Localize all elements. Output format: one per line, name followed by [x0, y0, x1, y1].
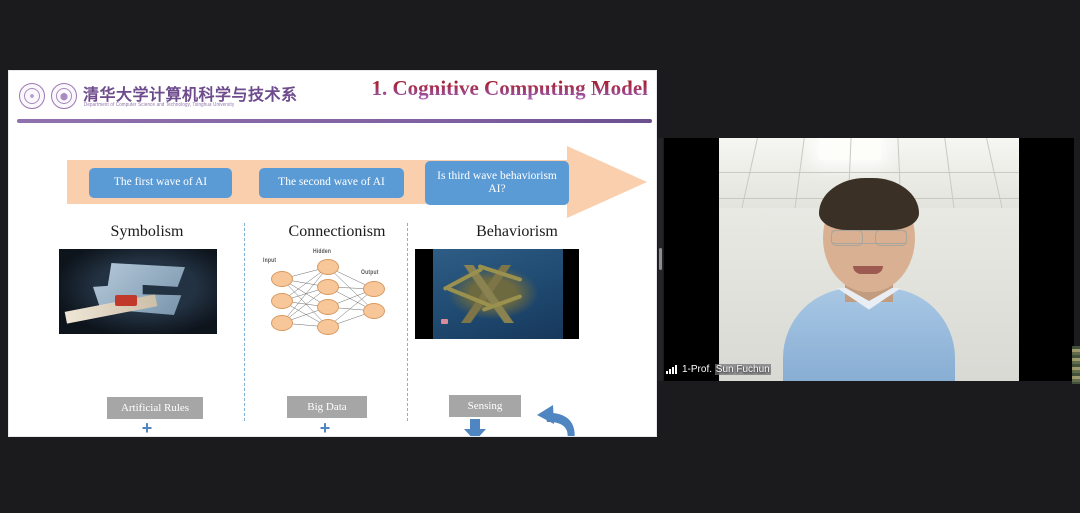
feedback-loop-arrow-icon: [531, 401, 589, 437]
behaviorism-robot-image: [415, 249, 579, 339]
shared-slide-panel[interactable]: 清华大学计算机科学与技术系 Department of Computer Sci…: [8, 70, 657, 437]
signal-bars-icon: [666, 365, 677, 374]
department-name-en: Department of Computer Science and Techn…: [84, 101, 234, 107]
column-behaviorism: Behaviorism: [417, 223, 617, 241]
person-mouth: [853, 266, 883, 274]
participant-video-tile[interactable]: 1-Prof. Sun Fuchun: [664, 138, 1074, 381]
step-box-big-data: Big Data: [287, 396, 367, 418]
nn-node: [363, 303, 385, 319]
nn-node: [317, 279, 339, 295]
arrow-head: [567, 146, 647, 218]
header-divider-rule: [17, 119, 652, 123]
tsinghua-seal-icon: [19, 83, 45, 109]
ceiling-grid-line: [794, 138, 804, 210]
column-divider-1: [244, 223, 245, 421]
symbolism-blocks-image: [59, 249, 217, 334]
neural-network-diagram: Input Hidden Output: [261, 247, 395, 337]
video-feed: [719, 138, 1019, 381]
participant-name-label: 1-Prof. Sun Fuchun: [666, 362, 771, 377]
nn-node: [271, 271, 293, 287]
step-box-artificial-rules: Artificial Rules: [107, 397, 203, 419]
plus-icon: +: [139, 421, 155, 437]
step-box-sensing: Sensing: [449, 395, 521, 417]
ai-waves-arrow: The first wave of AI The second wave of …: [67, 146, 647, 218]
cs-dept-seal-icon: [51, 83, 77, 109]
column-symbolism: Symbolism: [47, 223, 247, 241]
column-title-behaviorism: Behaviorism: [417, 223, 617, 241]
nn-node: [271, 315, 293, 331]
column-divider-2: [407, 223, 408, 421]
recording-dot-icon: [441, 319, 448, 324]
ceiling-grid-line: [741, 138, 758, 210]
ceiling-grid-line: [944, 138, 954, 210]
nn-node: [363, 281, 385, 297]
nn-node: [317, 259, 339, 275]
nn-node: [317, 319, 339, 335]
plus-icon: +: [317, 421, 333, 437]
glasses-icon: [831, 230, 907, 244]
wave-box-third: Is third wave behaviorism AI?: [425, 161, 569, 205]
participant-name: Sun Fuchun: [715, 364, 771, 375]
ceiling-grid-line: [719, 172, 1019, 173]
panel-resize-handle[interactable]: [659, 248, 662, 270]
ceiling-grid-line: [986, 138, 1003, 210]
slide-header: 清华大学计算机科学与技术系 Department of Computer Sci…: [9, 71, 656, 121]
nn-node: [317, 299, 339, 315]
red-block-shape: [115, 295, 137, 306]
participant-prefix: 1-Prof.: [682, 364, 715, 375]
column-title-symbolism: Symbolism: [47, 223, 247, 241]
wave-box-first: The first wave of AI: [89, 168, 232, 198]
slide-title: 1. Cognitive Computing Model: [371, 76, 648, 101]
nn-node: [271, 293, 293, 309]
adjacent-video-tile-sliver[interactable]: [1072, 346, 1080, 384]
wave-box-second: The second wave of AI: [259, 168, 404, 198]
